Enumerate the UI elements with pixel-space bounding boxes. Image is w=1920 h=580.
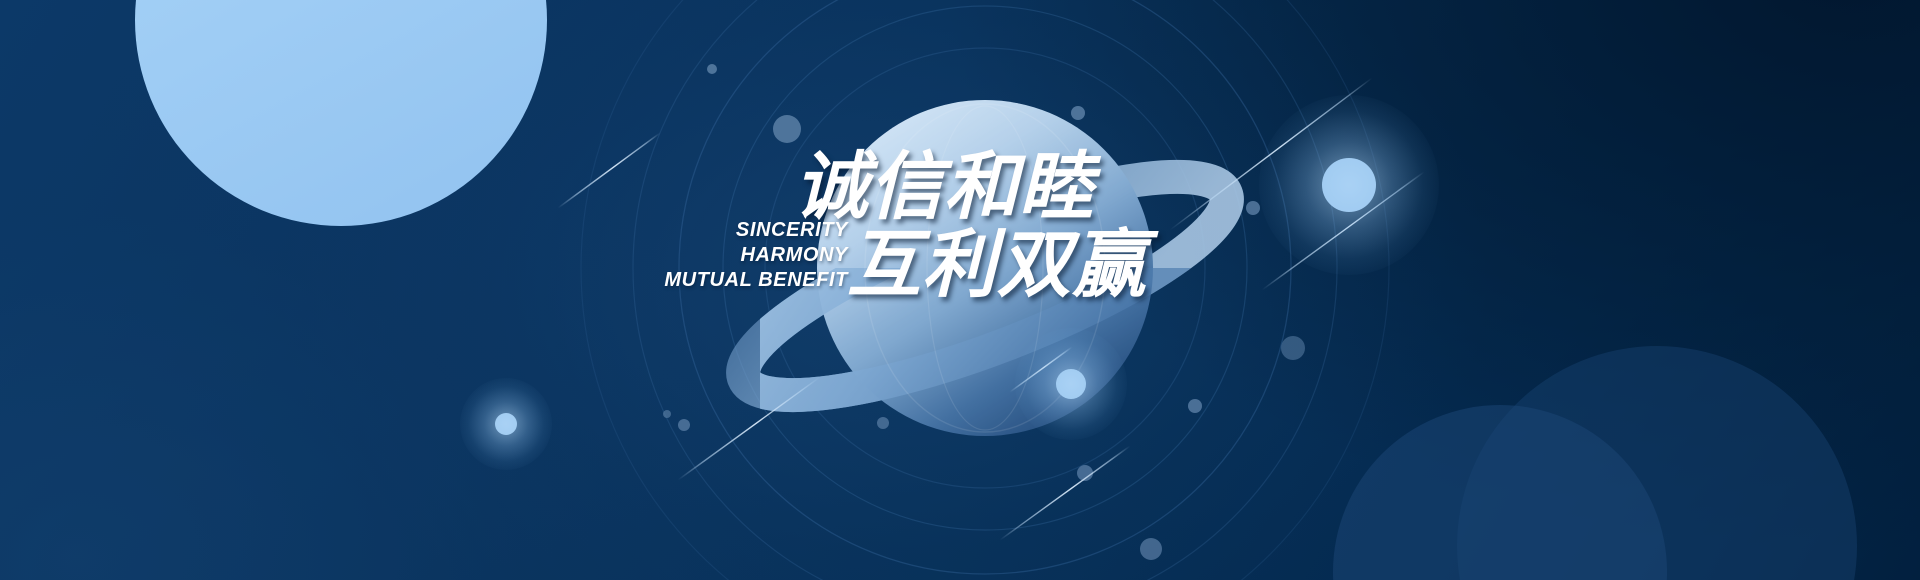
slogan-chinese-line-1: 诚信和睦 [794, 150, 1094, 224]
slogan-chinese-line-2: 互利双赢 [847, 228, 1147, 302]
slogan-english-block: SINCERITY HARMONY MUTUAL BENEFIT [538, 218, 848, 293]
glow-dot-left-icon [495, 413, 517, 435]
slogan-english-line-2: HARMONY [538, 243, 848, 268]
slogan-english-line-3: MUTUAL BENEFIT [538, 268, 848, 293]
hero-banner: 诚信和睦 互利双赢 SINCERITY HARMONY MUTUAL BENEF… [0, 0, 1920, 580]
glow-dot-mid-icon [1056, 369, 1086, 399]
glow-dot-right-icon [1322, 158, 1376, 212]
slogan-block: 诚信和睦 互利双赢 SINCERITY HARMONY MUTUAL BENEF… [654, 150, 1274, 360]
slogan-english-line-1: SINCERITY [538, 218, 848, 243]
